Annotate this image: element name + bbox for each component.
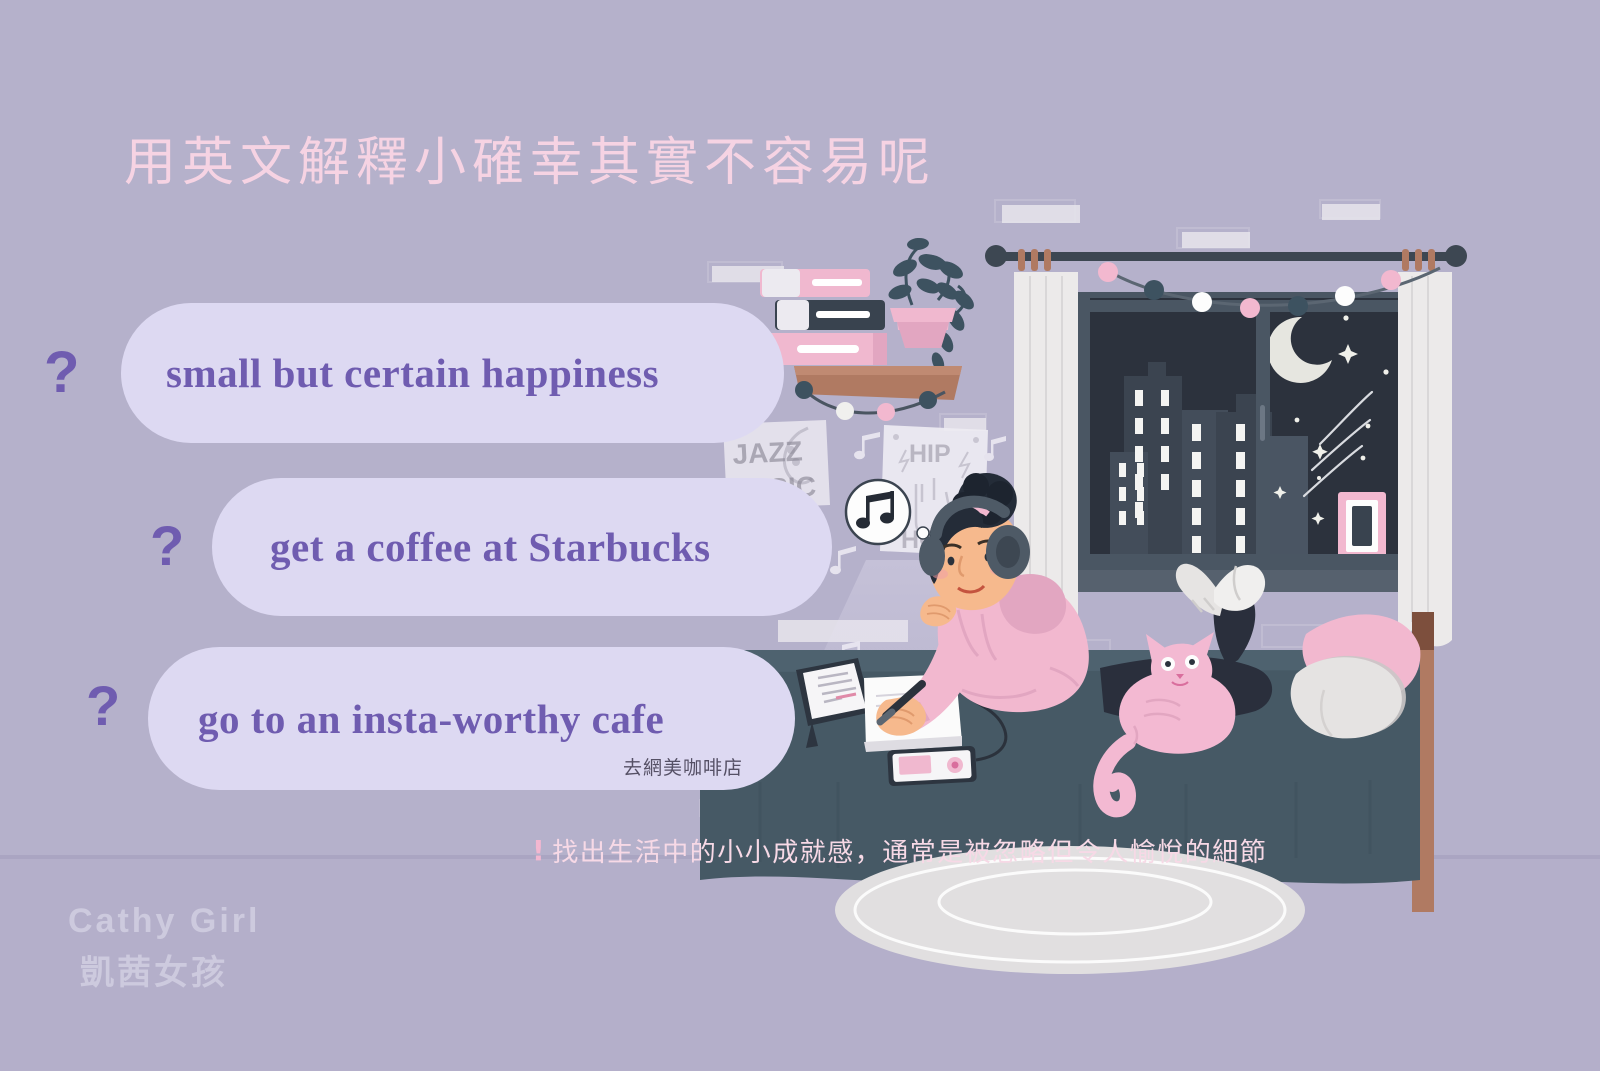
curtain-right: [1398, 272, 1452, 646]
watermark: Cathy Girl 凱茜女孩: [68, 902, 260, 994]
footer-caption: ! 找出生活中的小小成就感，通常是被忽略但令人愉悅的細節: [532, 832, 1267, 869]
speech-bubble-2[interactable]: get a coffee at Starbucks: [212, 478, 832, 616]
smartphone: [887, 746, 977, 787]
caption-text: 找出生活中的小小成就感，通常是被忽略但令人愉悅的細節: [552, 832, 1267, 869]
watermark-english: Cathy Girl: [68, 902, 260, 941]
question-mark-3: ?: [86, 678, 120, 734]
window-handle: [1260, 405, 1265, 441]
bubble-3-text: go to an insta-worthy cafe: [198, 695, 664, 743]
page-title: 用英文解釋小確幸其實不容易呢: [124, 120, 936, 195]
bubble-2-text: get a coffee at Starbucks: [270, 523, 711, 571]
question-mark-1: ?: [44, 344, 79, 402]
bubble-3-subtitle: 去網美咖啡店: [623, 753, 743, 780]
curtain-rod: [996, 252, 1456, 261]
music-note-badge: [846, 480, 910, 544]
speech-bubble-1[interactable]: small but certain happiness: [121, 303, 784, 443]
svg-text:HIP: HIP: [909, 440, 951, 468]
watermark-chinese: 凱茜女孩: [80, 945, 260, 994]
question-mark-2: ?: [150, 518, 184, 574]
speech-bubble-3[interactable]: go to an insta-worthy cafe 去網美咖啡店: [148, 647, 795, 790]
poster-canvas: JAZZ SIC HIP HOP: [0, 0, 1600, 1071]
exclamation-icon: !: [532, 834, 546, 867]
bubble-1-text: small but certain happiness: [166, 349, 659, 397]
small-dot: [917, 527, 929, 539]
